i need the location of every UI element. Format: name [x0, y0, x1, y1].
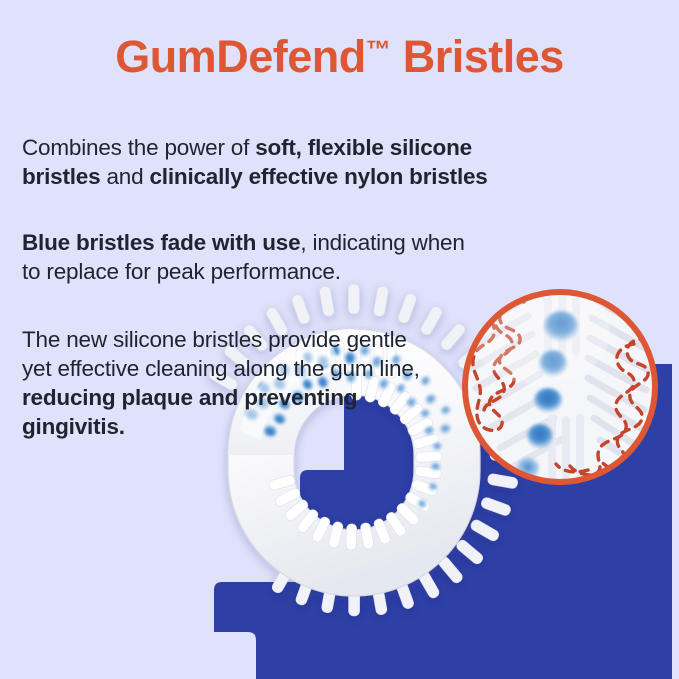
- trademark-symbol: ™: [366, 36, 391, 64]
- text-run-0: Blue bristles fade with use: [22, 230, 300, 255]
- page-title: GumDefend™ Bristles: [0, 22, 679, 85]
- page-title-suffix: Bristles: [391, 31, 564, 82]
- text-run-3: clinically effective nylon bristles: [149, 164, 487, 189]
- text-run-0: Combines the power of: [22, 135, 255, 160]
- feature-paragraph-1: Combines the power of soft, flexible sil…: [22, 133, 542, 191]
- text-run-1: reducing plaque and preventing gingiviti…: [22, 385, 357, 439]
- feature-paragraph-2: Blue bristles fade with use, indicating …: [22, 228, 482, 286]
- text-run-0: The new silicone bristles provide gentle…: [22, 327, 420, 381]
- text-run-2: and: [100, 164, 149, 189]
- page-title-main: GumDefend: [115, 31, 366, 82]
- product-infographic: GumDefend™ Bristles Combines the power o…: [0, 0, 679, 679]
- feature-paragraph-3: The new silicone bristles provide gentle…: [22, 325, 422, 441]
